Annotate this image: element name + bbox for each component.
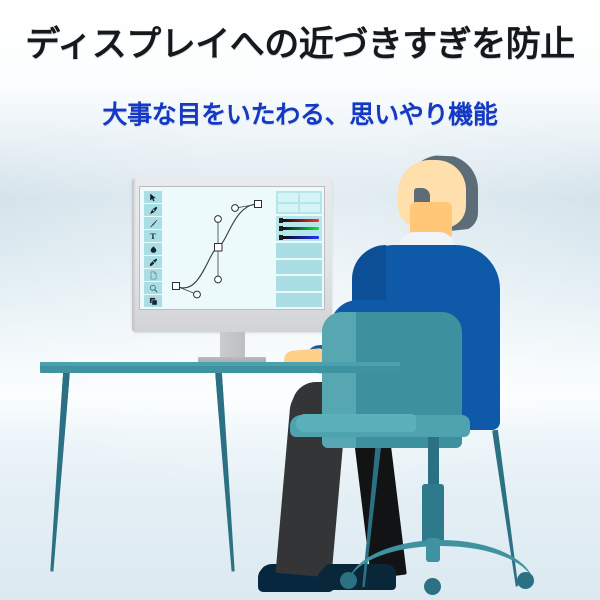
slider-knob[interactable]: [279, 235, 283, 240]
blue-channel-slider[interactable]: [279, 236, 319, 239]
monitor-stand-neck: [220, 332, 245, 357]
green-channel-slider[interactable]: [279, 227, 319, 230]
swatch[interactable]: [300, 193, 320, 202]
zoom-tool[interactable]: [144, 282, 162, 294]
swatch-grid-panel[interactable]: [276, 191, 322, 214]
chair-gas-cylinder: [422, 484, 444, 546]
shape-tool[interactable]: [144, 243, 162, 255]
poster-canvas: ディスプレイへの近づきすぎを防止 大事な目をいたわる、思いやり機能: [0, 0, 600, 600]
chair-caster: [517, 572, 534, 589]
panel-row[interactable]: [276, 243, 322, 258]
chair-base-hub: [426, 538, 440, 562]
app-right-panels: [276, 191, 322, 307]
layers-tool[interactable]: [144, 295, 162, 307]
swatch[interactable]: [300, 204, 320, 213]
desk-leg-left: [48, 372, 70, 572]
red-channel-slider[interactable]: [279, 219, 319, 222]
slider-knob[interactable]: [279, 226, 283, 231]
select-arrow-tool[interactable]: [144, 191, 162, 203]
page-tool[interactable]: [144, 269, 162, 281]
bezier-curve-canvas[interactable]: [164, 190, 272, 308]
swatch[interactable]: [278, 193, 298, 202]
brush-tool[interactable]: [144, 217, 162, 229]
eyedropper-tool[interactable]: [144, 256, 162, 268]
chair-armrest: [296, 414, 416, 432]
panel-row[interactable]: [276, 276, 322, 291]
computer-monitor: T: [132, 178, 332, 332]
monitor-chin: [139, 312, 325, 324]
chair-caster: [340, 572, 357, 589]
panel-row[interactable]: [276, 260, 322, 275]
rgb-sliders-panel: [276, 216, 322, 241]
desk-leg-right: [215, 372, 237, 572]
slider-track: [281, 219, 319, 222]
chair-caster: [424, 578, 441, 595]
slider-track: [281, 227, 319, 230]
slider-track: [281, 236, 319, 239]
monitor-screen: T: [139, 186, 325, 310]
illustration-scene: T: [0, 0, 600, 600]
desk-top-highlight: [40, 362, 400, 366]
swatch[interactable]: [278, 204, 298, 213]
text-tool[interactable]: T: [144, 230, 162, 242]
app-toolbar: T: [144, 191, 162, 307]
slider-knob[interactable]: [279, 218, 283, 223]
pen-tool[interactable]: [144, 204, 162, 216]
panel-row[interactable]: [276, 293, 322, 308]
